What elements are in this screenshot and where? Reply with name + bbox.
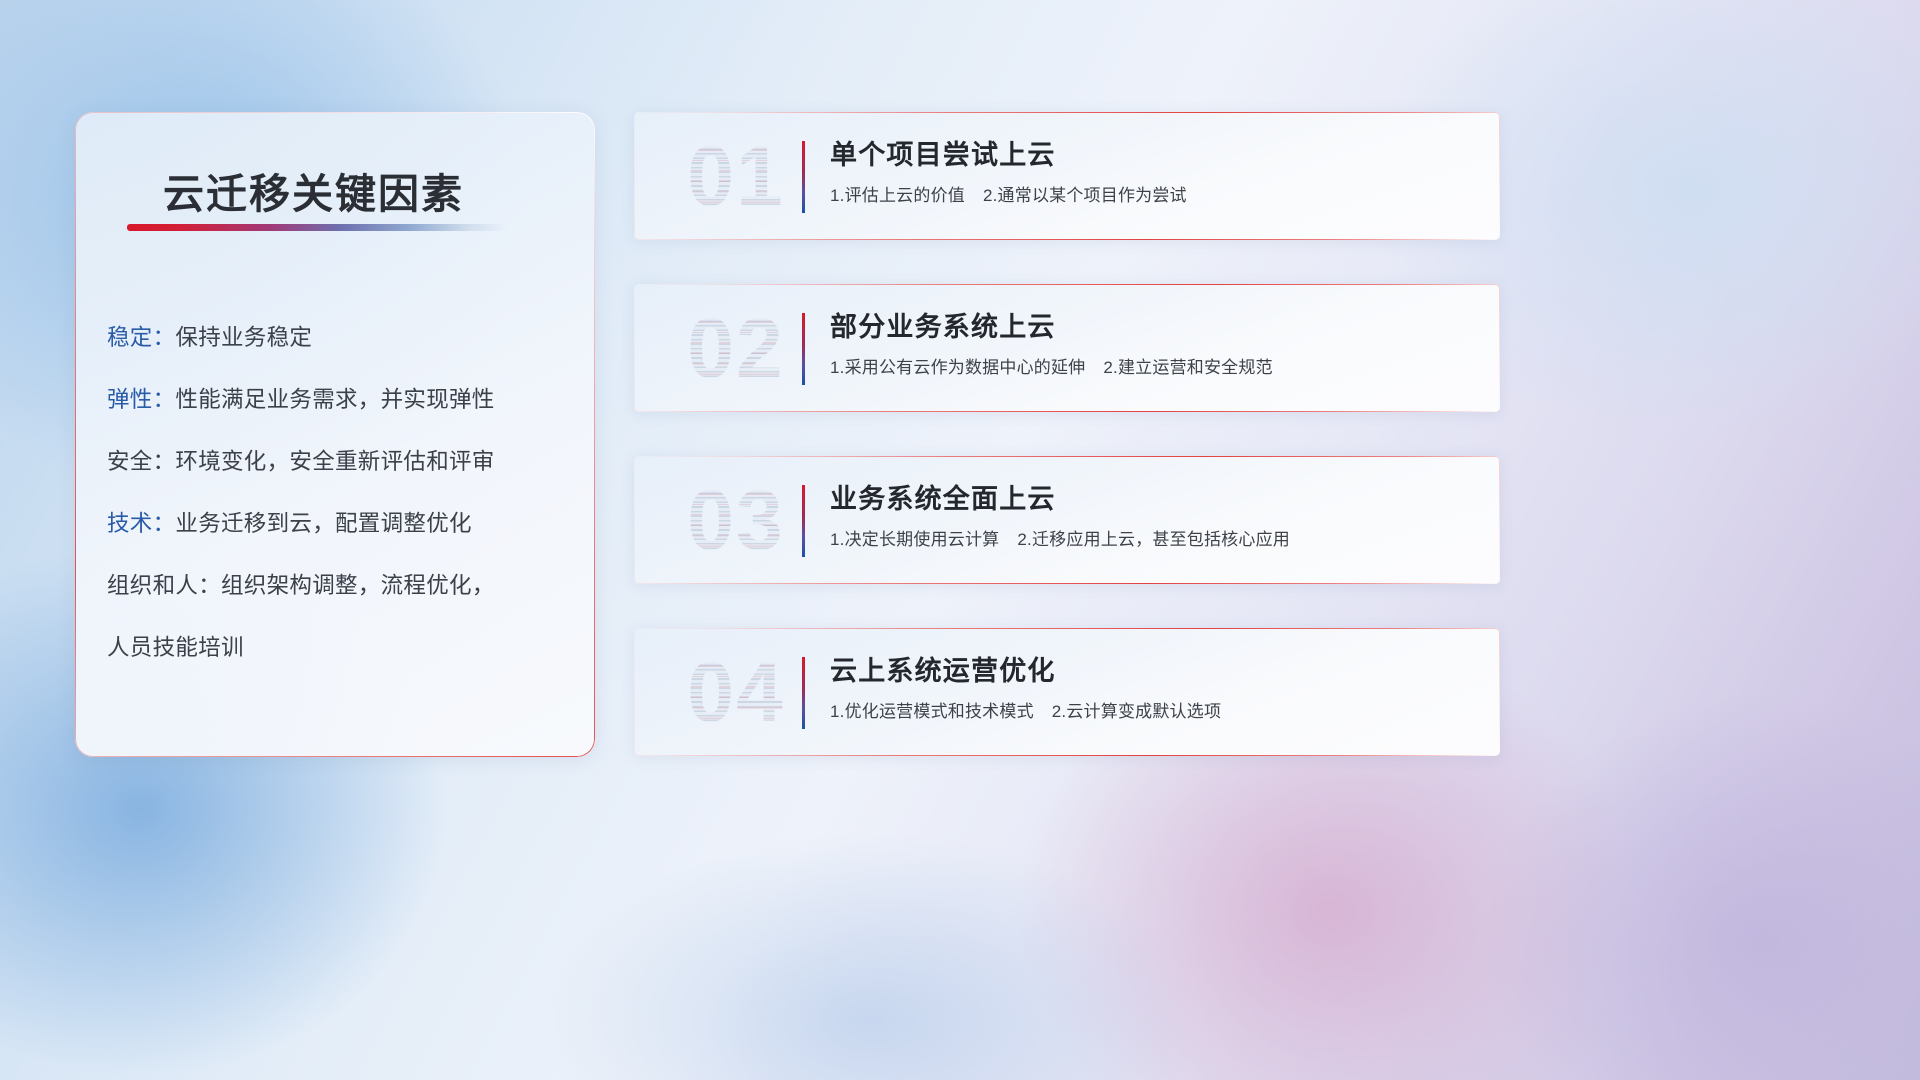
stage-card-title: 部分业务系统上云 <box>830 308 1484 346</box>
key-factor-label: 安全： <box>107 449 175 474</box>
key-factor-text: 保持业务稳定 <box>175 325 312 350</box>
title-underline-gradient <box>127 224 507 231</box>
key-factor-label: 弹性： <box>107 387 175 412</box>
stage-card-point: 1.决定长期使用云计算 <box>830 530 999 549</box>
panel-title: 云迁移关键因素 <box>163 160 464 220</box>
stage-card-title: 单个项目尝试上云 <box>830 136 1484 174</box>
stage-card-point: 2.建立运营和安全规范 <box>1103 358 1272 377</box>
accent-bar <box>802 657 805 729</box>
slide-stage: 云迁移关键因素 稳定：保持业务稳定弹性：性能满足业务需求，并实现弹性安全：环境变… <box>0 0 1920 1080</box>
stage-card-point: 2.通常以某个项目作为尝试 <box>983 186 1187 205</box>
key-factor-line: 技术：业务迁移到云，配置调整优化 <box>107 493 577 555</box>
stage-card-points: 1.优化运营模式和技术模式2.云计算变成默认选项 <box>830 700 1484 724</box>
stage-number-watermark: 01 <box>656 130 816 222</box>
stage-card[interactable]: 0202部分业务系统上云1.采用公有云作为数据中心的延伸2.建立运营和安全规范 <box>634 284 1500 412</box>
stage-card-body: 部分业务系统上云1.采用公有云作为数据中心的延伸2.建立运营和安全规范 <box>830 308 1484 380</box>
key-factors-list: 稳定：保持业务稳定弹性：性能满足业务需求，并实现弹性安全：环境变化，安全重新评估… <box>107 307 577 679</box>
stage-card-point: 2.云计算变成默认选项 <box>1052 702 1221 721</box>
stage-card[interactable]: 0404云上系统运营优化1.优化运营模式和技术模式2.云计算变成默认选项 <box>634 628 1500 756</box>
key-factor-line: 组织和人：组织架构调整，流程优化， <box>107 555 577 617</box>
key-factor-line: 弹性：性能满足业务需求，并实现弹性 <box>107 369 577 431</box>
accent-bar <box>802 485 805 557</box>
stage-card-point: 1.优化运营模式和技术模式 <box>830 702 1034 721</box>
stage-card-body: 云上系统运营优化1.优化运营模式和技术模式2.云计算变成默认选项 <box>830 652 1484 724</box>
key-factor-text: 性能满足业务需求，并实现弹性 <box>175 387 494 412</box>
stage-card-point: 1.采用公有云作为数据中心的延伸 <box>830 358 1085 377</box>
stage-number-watermark: 04 <box>656 646 816 738</box>
accent-bar <box>802 141 805 213</box>
key-factor-label: 稳定： <box>107 325 175 350</box>
stage-cards-list: 0101单个项目尝试上云1.评估上云的价值2.通常以某个项目作为尝试0202部分… <box>634 112 1500 800</box>
stage-card[interactable]: 0101单个项目尝试上云1.评估上云的价值2.通常以某个项目作为尝试 <box>634 112 1500 240</box>
key-factors-panel: 云迁移关键因素 稳定：保持业务稳定弹性：性能满足业务需求，并实现弹性安全：环境变… <box>75 112 595 757</box>
key-factor-label: 技术： <box>107 511 175 536</box>
stage-card-point: 2.迁移应用上云，甚至包括核心应用 <box>1017 530 1290 549</box>
stage-card[interactable]: 0303业务系统全面上云1.决定长期使用云计算2.迁移应用上云，甚至包括核心应用 <box>634 456 1500 584</box>
stage-card-body: 单个项目尝试上云1.评估上云的价值2.通常以某个项目作为尝试 <box>830 136 1484 208</box>
stage-card-points: 1.决定长期使用云计算2.迁移应用上云，甚至包括核心应用 <box>830 528 1484 552</box>
stage-card-points: 1.评估上云的价值2.通常以某个项目作为尝试 <box>830 184 1484 208</box>
key-factor-text: 人员技能培训 <box>107 635 244 660</box>
key-factor-text: 组织架构调整，流程优化， <box>221 573 495 598</box>
stage-card-point: 1.评估上云的价值 <box>830 186 965 205</box>
stage-number-watermark: 03 <box>656 474 816 566</box>
key-factor-label: 组织和人： <box>107 573 221 598</box>
key-factor-line: 稳定：保持业务稳定 <box>107 307 577 369</box>
accent-bar <box>802 313 805 385</box>
key-factor-line: 人员技能培训 <box>107 617 577 679</box>
stage-card-points: 1.采用公有云作为数据中心的延伸2.建立运营和安全规范 <box>830 356 1484 380</box>
key-factor-text: 环境变化，安全重新评估和评审 <box>175 449 494 474</box>
stage-card-title: 业务系统全面上云 <box>830 480 1484 518</box>
stage-card-title: 云上系统运营优化 <box>830 652 1484 690</box>
stage-number-watermark: 02 <box>656 302 816 394</box>
key-factor-text: 业务迁移到云，配置调整优化 <box>175 511 471 536</box>
stage-card-body: 业务系统全面上云1.决定长期使用云计算2.迁移应用上云，甚至包括核心应用 <box>830 480 1484 552</box>
key-factor-line: 安全：环境变化，安全重新评估和评审 <box>107 431 577 493</box>
